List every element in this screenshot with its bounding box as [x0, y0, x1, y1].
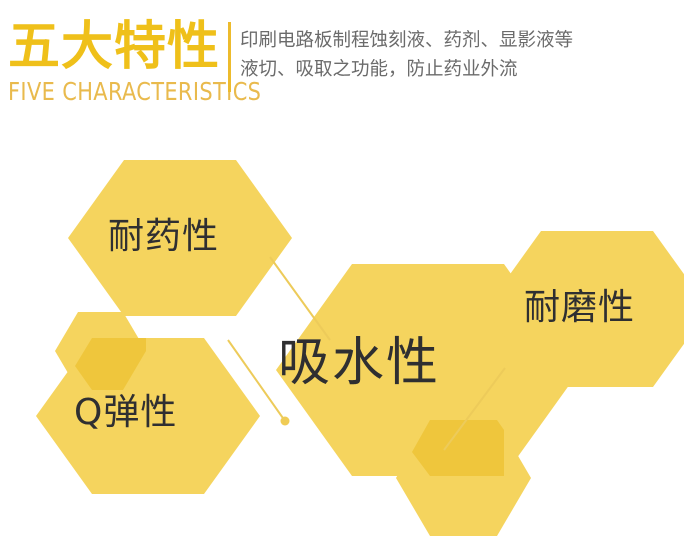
hexagon-diagram-svg [0, 0, 684, 552]
connector-line-naiyao-down [270, 257, 330, 340]
hexagon-diagram: 耐药性 Q弹性 吸水性 耐磨性 [0, 0, 684, 552]
infographic-page: 五大特性 FIVE CHARACTERISTICS 印刷电路板制程蚀刻液、药剂、… [0, 0, 684, 552]
hexagon-naiyao [68, 160, 292, 316]
overlap-patch-xishui [412, 420, 504, 476]
